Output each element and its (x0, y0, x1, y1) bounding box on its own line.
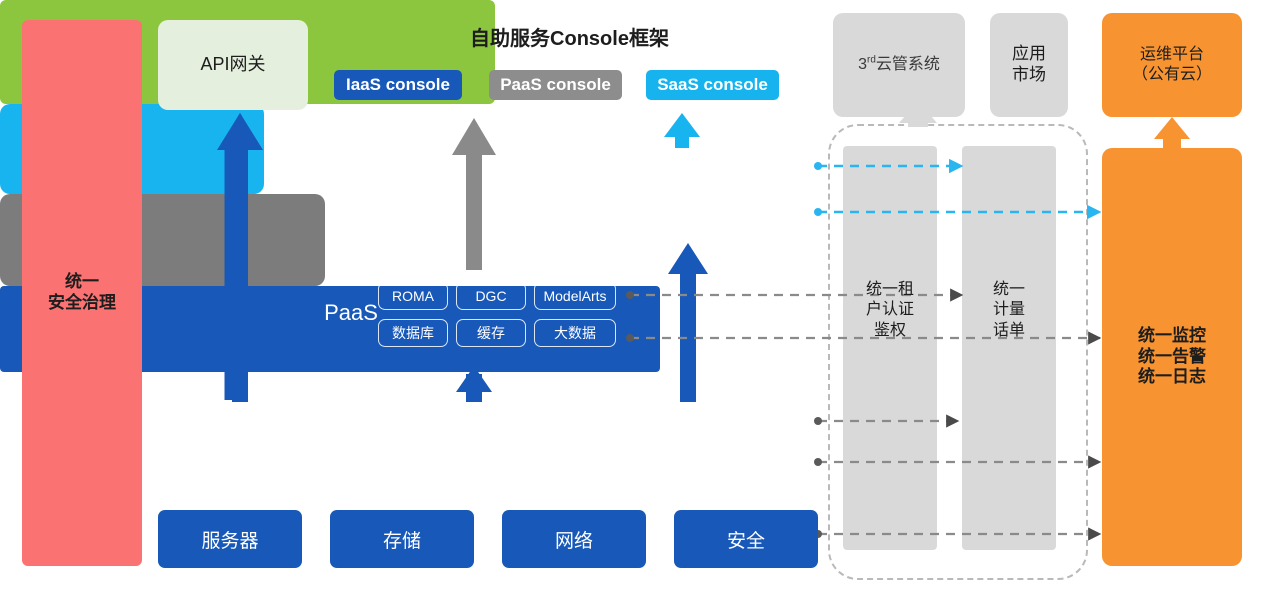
dot-iaas-auth (814, 417, 822, 425)
saas-chip-desktop-cloud[interactable]: 桌面云 (724, 196, 794, 227)
dot-iaas-ops (814, 458, 822, 466)
saas-label-text: SaaS (570, 178, 621, 204)
saas-chip-blockchain[interactable]: 区块链 (641, 157, 715, 188)
dot-saas-ops (814, 208, 822, 216)
iaas-chip-network-label: Network (606, 429, 676, 451)
paas-chip-modelarts[interactable]: ModelArts (534, 282, 616, 310)
ops-platform-box[interactable]: 运维平台 （公有云） (1102, 13, 1242, 117)
console-framework-title-text: 自助服务Console框架 (470, 27, 669, 51)
paas-chip-cache-label: 缓存 (477, 323, 505, 343)
console-chip-paas[interactable]: PaaS console (489, 70, 622, 100)
iaas-chip-compute-label: Compute (361, 429, 438, 451)
infra-security-box[interactable]: 安全 (674, 510, 818, 568)
saas-chip-blockchain-label: 区块链 (654, 161, 702, 185)
iaas-chip-cce[interactable]: CCE (708, 419, 810, 461)
console-chip-saas[interactable]: SaaS console (646, 70, 779, 100)
saas-chip-video-cloud-label: 视频云 (654, 200, 702, 224)
paas-chip-bigdata[interactable]: 大数据 (534, 319, 616, 347)
arrow-head-iaas-saas (668, 243, 708, 274)
paas-chip-database[interactable]: 数据库 (378, 319, 448, 347)
iaas-label-text: 统一基础设施服务 (178, 430, 330, 453)
api-gateway-box[interactable]: API网关 (158, 20, 308, 110)
shared-metering-label: 统一 计量 话单 (962, 280, 1056, 341)
paas-label-text: PaaS (324, 300, 378, 327)
shared-auth-label: 统一租 户认证 鉴权 (843, 280, 937, 341)
ops-platform-label: 运维平台 （公有云） (1132, 45, 1212, 84)
arrow-head-paas-console (452, 118, 496, 155)
arrow-shaft-paas-console (466, 148, 482, 270)
infra-network-box[interactable]: 网络 (502, 510, 646, 568)
saas-chip-video-cloud[interactable]: 视频云 (641, 196, 715, 227)
iaas-chip-storage-label: Storage (487, 429, 554, 451)
arrow-head-ops (1154, 117, 1190, 139)
paas-chip-cache[interactable]: 缓存 (456, 319, 526, 347)
console-chip-paas-label: PaaS console (500, 75, 611, 95)
security-governance-panel[interactable]: 统一 安全治理 (22, 20, 142, 566)
iaas-chip-storage[interactable]: Storage (466, 419, 574, 461)
shared-column-metering (962, 146, 1056, 550)
console-chip-iaas[interactable]: IaaS console (334, 70, 462, 100)
ops-unified-monitoring-label: 统一监控 统一告警 统一日志 (1138, 326, 1206, 388)
console-chip-saas-label: SaaS console (657, 75, 768, 95)
infra-server-box[interactable]: 服务器 (158, 510, 302, 568)
paas-chip-dgc[interactable]: DGC (456, 282, 526, 310)
arrow-shaft-saas-console (675, 128, 689, 148)
architecture-diagram: 统一 安全治理 API网关 自助服务Console框架 IaaS console… (0, 0, 1265, 605)
app-market-label: 应用 市场 (1012, 44, 1046, 85)
third-party-label: 3rd云管系统 (858, 55, 940, 75)
app-market-box[interactable]: 应用 市场 (990, 13, 1068, 117)
infra-storage-box[interactable]: 存储 (330, 510, 474, 568)
arrow-shaft-iaas-saas (680, 258, 696, 402)
paas-chip-roma-label: ROMA (392, 288, 434, 304)
paas-chip-modelarts-label: ModelArts (543, 288, 606, 304)
saas-label: SaaS (560, 175, 632, 207)
paas-chip-database-label: 数据库 (392, 323, 434, 343)
paas-chip-roma[interactable]: ROMA (378, 282, 448, 310)
api-gateway-label: API网关 (200, 54, 265, 76)
saas-chip-iot[interactable]: IoT (724, 157, 794, 188)
ops-unified-monitoring-panel[interactable]: 统一监控 统一告警 统一日志 (1102, 148, 1242, 566)
arrow-shaft-iaas-paas (466, 374, 482, 402)
paas-chip-dgc-label: DGC (475, 288, 506, 304)
third-party-cloud-mgmt-box[interactable]: 3rd云管系统 (833, 13, 965, 117)
infra-network-label: 网络 (555, 526, 593, 553)
iaas-chip-compute[interactable]: Compute (344, 419, 456, 461)
iaas-label: 统一基础设施服务 (168, 425, 340, 459)
saas-chip-iot-label: IoT (747, 164, 770, 182)
infra-storage-label: 存储 (383, 526, 421, 553)
infra-server-label: 服务器 (201, 526, 258, 553)
dot-saas-auth (814, 162, 822, 170)
arrow-head-saas-console (664, 113, 700, 137)
shared-column-auth (843, 146, 937, 550)
paas-chip-bigdata-label: 大数据 (554, 323, 596, 343)
iaas-chip-network[interactable]: Network (584, 419, 698, 461)
console-framework-title: 自助服务Console框架 (322, 24, 817, 54)
iaas-chip-cce-label: CCE (739, 429, 779, 451)
infra-security-label: 安全 (727, 526, 765, 553)
saas-chip-desktop-cloud-label: 桌面云 (735, 200, 783, 224)
security-governance-label: 统一 安全治理 (48, 272, 116, 313)
console-chip-iaas-label: IaaS console (346, 75, 450, 95)
